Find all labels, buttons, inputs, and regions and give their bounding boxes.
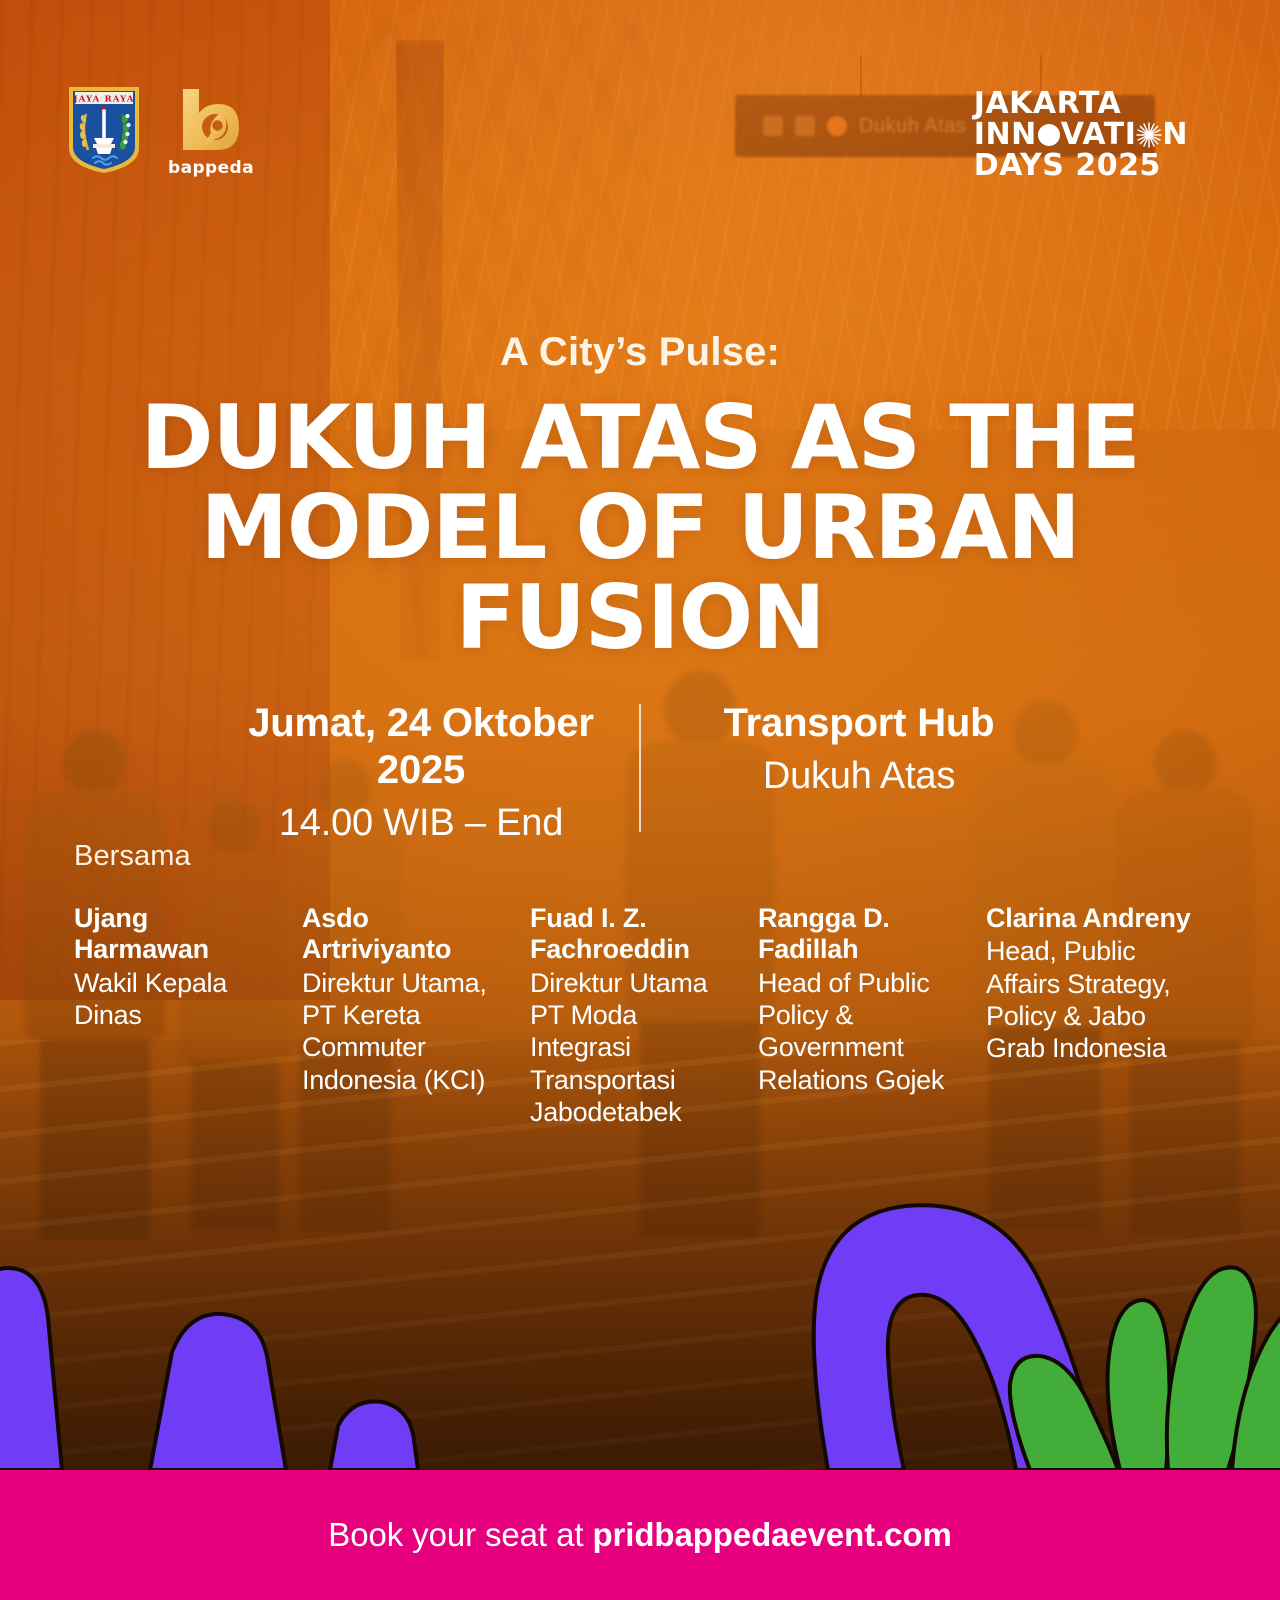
blob-green-frond-3 (1167, 1267, 1256, 1470)
speakers-label: Bersama (74, 840, 191, 873)
bappeda-b-icon (175, 87, 247, 153)
speaker-card: Clarina Andreny Head, Public Affairs Str… (986, 903, 1214, 1129)
meta-divider (639, 704, 641, 832)
speaker-name: Fuad I. Z. Fachroeddin (530, 903, 740, 966)
footer-cta-text: Book your seat at pridbappedaevent.com (328, 1516, 951, 1554)
footer-cta-prefix: Book your seat at (328, 1516, 592, 1553)
speaker-name: Asdo Artriviyanto (302, 903, 512, 966)
blob-purple-arch (814, 1205, 1100, 1470)
speaker-role: Direktur Utama PT Moda Integrasi Transpo… (530, 967, 740, 1129)
event-venue-block: Transport Hub Dukuh Atas (649, 700, 1069, 848)
blob-green-frond-4 (1232, 1305, 1280, 1470)
speakers-list: Ujang Harmawan Wakil Kepala Dinas Asdo A… (74, 903, 1228, 1129)
headline-eyebrow: A City’s Pulse: (120, 330, 1160, 375)
bappeda-logo: bappeda (168, 84, 254, 178)
headline-title: DUKUH ATAS AS THE MODEL OF URBAN FUSION (120, 393, 1160, 662)
jid-innovation-part1: INN (974, 119, 1037, 150)
speaker-role: Head, Public Affairs Strategy, Policy & … (986, 935, 1196, 1065)
event-date: Jumat, 24 Oktober 2025 (229, 700, 613, 794)
jakarta-innovation-days-logo: JAKARTA INN VATI (974, 88, 1188, 182)
starburst-o-icon (1136, 122, 1162, 148)
event-poster: Dukuh Atas (0, 0, 1280, 1600)
jid-line-1: JAKARTA (974, 88, 1188, 119)
speaker-card: Fuad I. Z. Fachroeddin Direktur Utama PT… (530, 903, 758, 1129)
jakarta-emblem-icon: JAYA RAYA (66, 84, 142, 176)
speaker-name: Clarina Andreny (986, 903, 1196, 934)
headline-line: DUKUH ATAS AS THE (120, 393, 1160, 483)
jid-innovation-part3: N (1162, 119, 1188, 150)
headline-line: MODEL OF URBAN (120, 483, 1160, 573)
speaker-role: Head of Public Policy & Government Relat… (758, 967, 968, 1097)
jid-line-3: DAYS 2025 (974, 150, 1188, 181)
speaker-role: Wakil Kepala Dinas (74, 967, 284, 1032)
event-time: 14.00 WIB – End (229, 800, 613, 848)
headline-block: A City’s Pulse: DUKUH ATAS AS THE MODEL … (0, 330, 1280, 662)
speaker-name: Rangga D. Fadillah (758, 903, 968, 966)
headline-line: FUSION (120, 573, 1160, 663)
filled-circle-o-icon (1038, 124, 1060, 146)
speaker-role: Direktur Utama, PT Kereta Commuter Indon… (302, 967, 512, 1097)
speaker-card: Ujang Harmawan Wakil Kepala Dinas (74, 903, 302, 1129)
jid-line-2: INN VATI N (974, 119, 1188, 150)
blob-shapes-svg (0, 1140, 1280, 1470)
brand-bar: JAYA RAYA (66, 84, 254, 178)
blob-purple-left (0, 1268, 62, 1470)
event-date-block: Jumat, 24 Oktober 2025 14.00 WIB – End (211, 700, 631, 848)
footer-cta-url[interactable]: pridbappedaevent.com (592, 1516, 951, 1553)
event-meta: Jumat, 24 Oktober 2025 14.00 WIB – End T… (0, 700, 1280, 848)
bappeda-wordmark: bappeda (168, 158, 254, 178)
event-venue-type: Transport Hub (667, 700, 1051, 747)
blob-green-frond-1 (1010, 1356, 1118, 1470)
speaker-card: Rangga D. Fadillah Head of Public Policy… (758, 903, 986, 1129)
jid-innovation-part2: VATI (1061, 119, 1137, 150)
blob-purple-bump (330, 1402, 418, 1471)
decorative-blobs (0, 1140, 1280, 1470)
speaker-card: Asdo Artriviyanto Direktur Utama, PT Ker… (302, 903, 530, 1129)
blob-green-frond-2 (1108, 1300, 1170, 1470)
event-venue-name: Dukuh Atas (667, 753, 1051, 801)
footer-cta-bar: Book your seat at pridbappedaevent.com (0, 1470, 1280, 1600)
svg-text:JAYA RAYA: JAYA RAYA (72, 95, 134, 105)
poster-content: JAYA RAYA (0, 0, 1280, 1600)
speaker-name: Ujang Harmawan (74, 903, 284, 966)
blob-purple-second (150, 1314, 286, 1470)
